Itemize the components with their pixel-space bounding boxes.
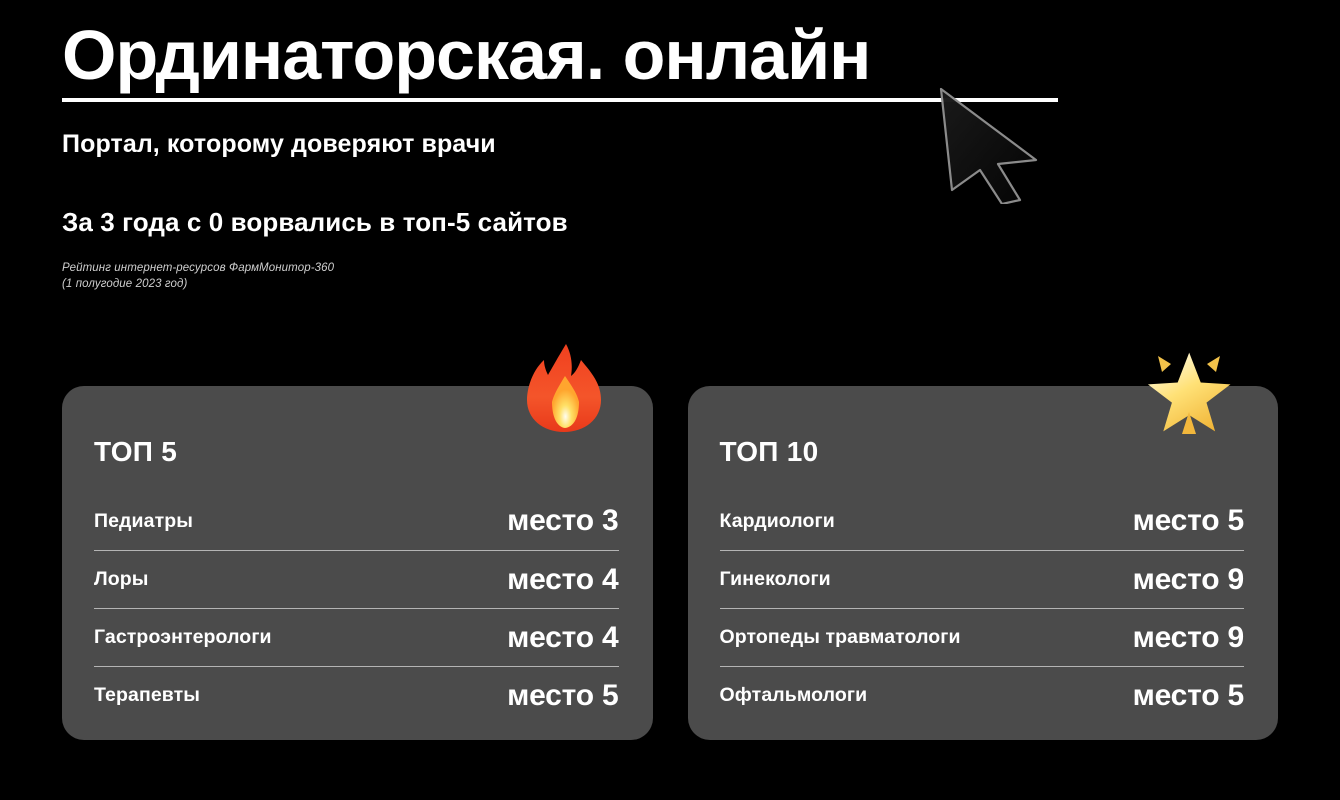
page-subtitle: Портал, которому доверяют врачи bbox=[62, 130, 1122, 159]
header-block: Ординаторская. онлайн Портал, которому д… bbox=[62, 18, 1122, 293]
title-underline bbox=[62, 98, 1058, 102]
fire-emoji bbox=[521, 342, 607, 434]
ranking-card-top10: ТОП 10 Кардиологи место 5 Гинекологи мес… bbox=[688, 386, 1279, 740]
card-title: ТОП 10 bbox=[720, 436, 1245, 468]
ranking-cards: ТОП 5 Педиатры место 3 Лоры место 4 Гаст… bbox=[62, 386, 1278, 740]
row-value: место 3 bbox=[507, 504, 618, 538]
table-row: Гастроэнтерологи место 4 bbox=[94, 608, 619, 666]
row-label: Гинекологи bbox=[720, 568, 831, 591]
row-value: место 4 bbox=[507, 563, 618, 597]
slide-canvas: Ординаторская. онлайн Портал, которому д… bbox=[0, 0, 1340, 800]
glowing-star-emoji bbox=[1146, 342, 1232, 434]
row-value: место 9 bbox=[1133, 563, 1244, 597]
row-label: Лоры bbox=[94, 568, 149, 591]
row-value: место 5 bbox=[1133, 679, 1244, 713]
row-value: место 5 bbox=[1133, 504, 1244, 538]
page-title: Ординаторская. онлайн bbox=[62, 18, 1122, 94]
source-caption: Рейтинг интернет-ресурсов ФармМонитор-36… bbox=[62, 260, 1122, 293]
table-row: Кардиологи место 5 bbox=[720, 492, 1245, 550]
card-title: ТОП 5 bbox=[94, 436, 619, 468]
source-caption-line-1: Рейтинг интернет-ресурсов ФармМонитор-36… bbox=[62, 260, 1122, 277]
row-label: Кардиологи bbox=[720, 510, 835, 533]
row-label: Гастроэнтерологи bbox=[94, 626, 272, 649]
row-label: Ортопеды травматологи bbox=[720, 626, 961, 649]
table-row: Лоры место 4 bbox=[94, 550, 619, 608]
table-row: Офтальмологи место 5 bbox=[720, 666, 1245, 724]
table-row: Ортопеды травматологи место 9 bbox=[720, 608, 1245, 666]
ranking-card-top5: ТОП 5 Педиатры место 3 Лоры место 4 Гаст… bbox=[62, 386, 653, 740]
table-row: Гинекологи место 9 bbox=[720, 550, 1245, 608]
source-caption-line-2: (1 полугодие 2023 год) bbox=[62, 276, 1122, 293]
table-row: Терапевты место 5 bbox=[94, 666, 619, 724]
ranking-rows: Кардиологи место 5 Гинекологи место 9 Ор… bbox=[720, 492, 1245, 724]
ranking-rows: Педиатры место 3 Лоры место 4 Гастроэнте… bbox=[94, 492, 619, 724]
row-value: место 5 bbox=[507, 679, 618, 713]
row-value: место 4 bbox=[507, 621, 618, 655]
table-row: Педиатры место 3 bbox=[94, 492, 619, 550]
row-label: Офтальмологи bbox=[720, 684, 868, 707]
row-value: место 9 bbox=[1133, 621, 1244, 655]
row-label: Педиатры bbox=[94, 510, 193, 533]
row-label: Терапевты bbox=[94, 684, 200, 707]
claim-headline: За 3 года с 0 ворвались в топ-5 сайтов bbox=[62, 207, 1122, 238]
